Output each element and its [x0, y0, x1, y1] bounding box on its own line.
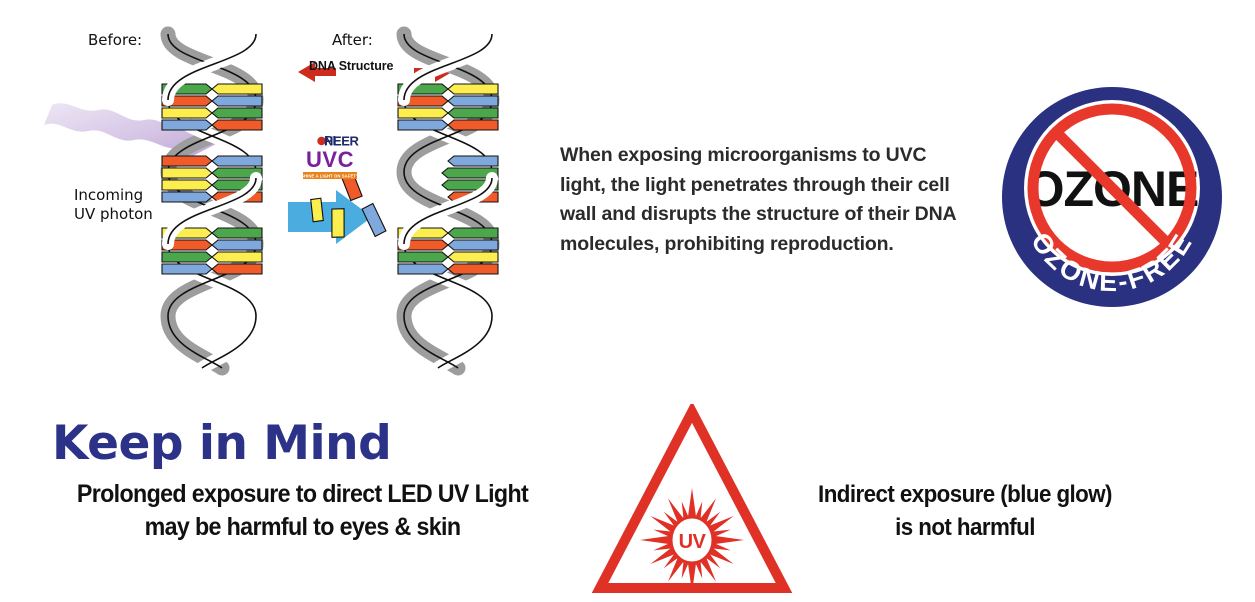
logo-tagline-text: SHINE A LIGHT ON SAFETY	[301, 174, 359, 179]
keep-in-mind-title: Keep in Mind	[52, 418, 391, 470]
label-after: After:	[332, 31, 373, 49]
uv-hazard-triangle: UV	[592, 404, 792, 596]
keep-in-mind-warning: Prolonged exposure to direct LED UV Ligh…	[49, 478, 556, 544]
pioneer-uvc-logo: PI NEER UVC SHINE A LIGHT ON SAFETY	[295, 132, 365, 186]
label-dna-structure: DNA Structure	[309, 59, 393, 73]
ozone-free-badge: OZONE OZONE-FREE	[1000, 85, 1225, 313]
blue-right-arrow-icon	[288, 190, 372, 244]
body-paragraph: When exposing microorganisms to UVC ligh…	[560, 141, 960, 259]
logo-product-text: UVC	[306, 147, 354, 172]
photon-label-line2: UV photon	[74, 205, 153, 224]
photon-label-line1: Incoming	[74, 186, 153, 205]
label-before: Before:	[88, 31, 142, 49]
uv-center-text: UV	[679, 531, 707, 553]
warning-line-1: Prolonged exposure to direct LED UV Ligh…	[49, 478, 556, 511]
indirect-exposure-text: Indirect exposure (blue glow) is not har…	[793, 478, 1137, 544]
indirect-line-2: is not harmful	[793, 511, 1137, 544]
indirect-line-1: Indirect exposure (blue glow)	[793, 478, 1137, 511]
label-incoming-uv-photon: Incoming UV photon	[74, 186, 153, 224]
dna-helix-before-icon	[162, 34, 262, 368]
warning-line-2: may be harmful to eyes & skin	[49, 511, 556, 544]
